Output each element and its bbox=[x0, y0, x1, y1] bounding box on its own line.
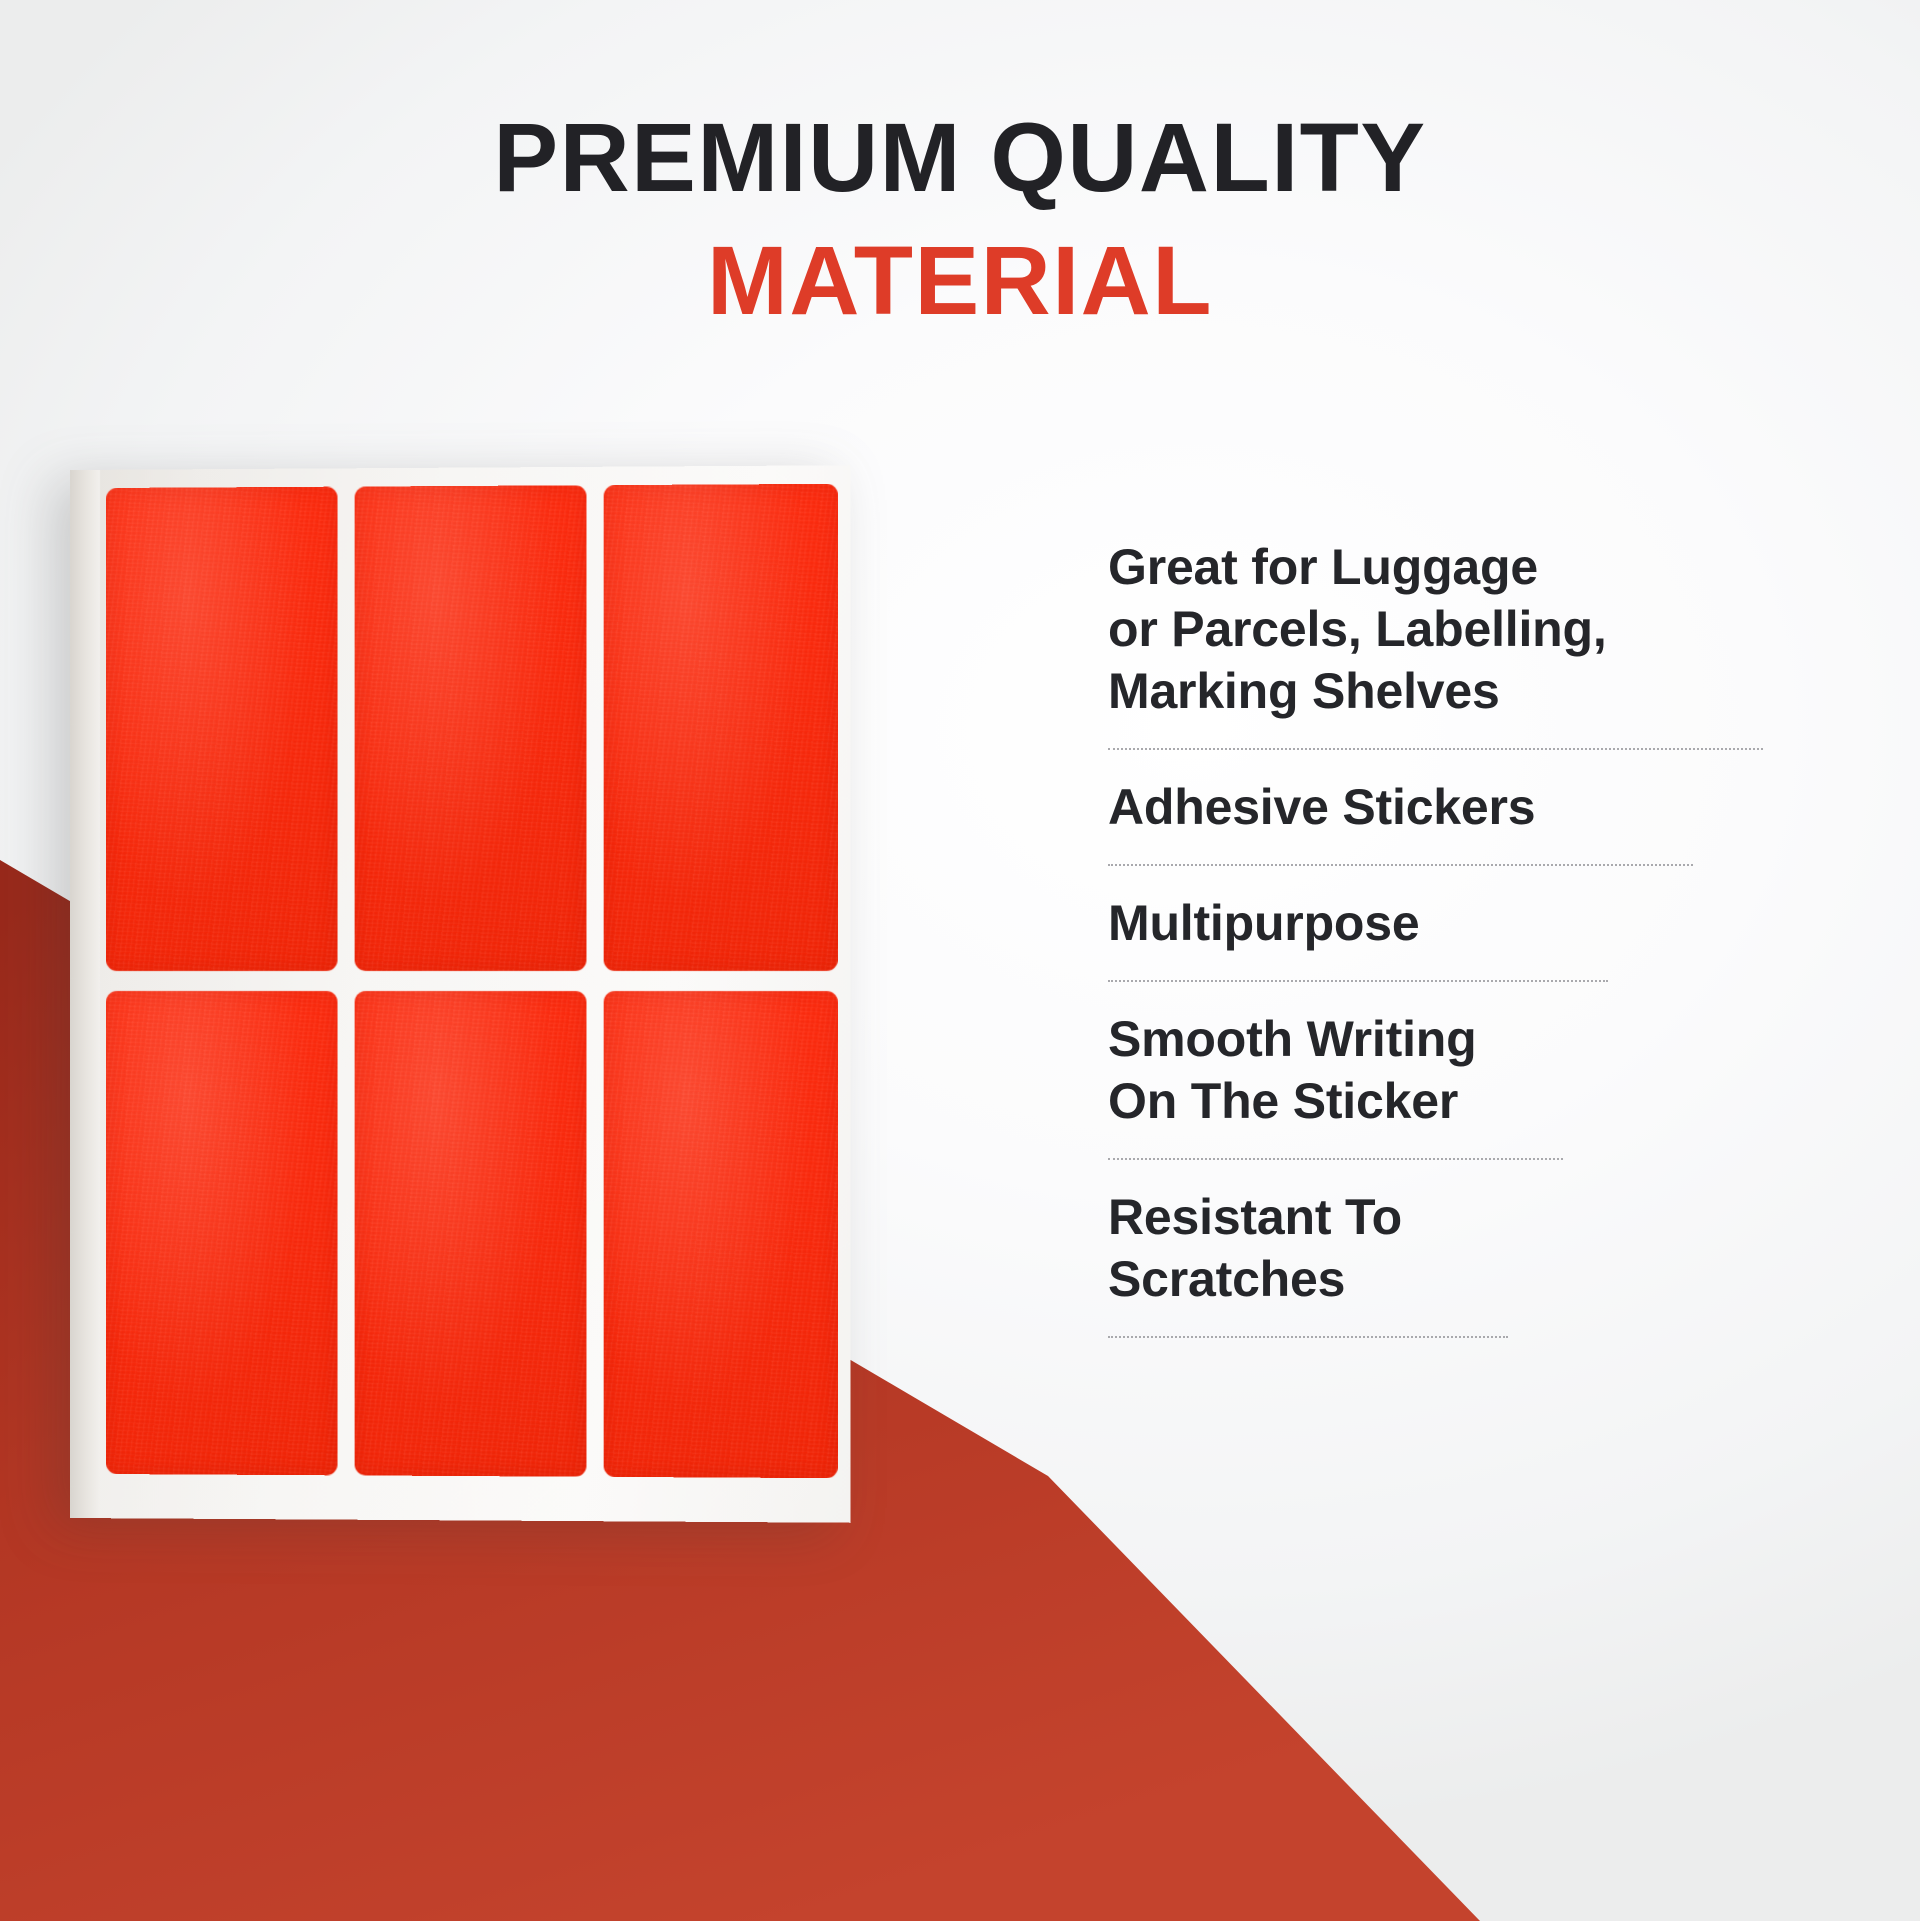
feature-label: Great for Luggage or Parcels, Labelling,… bbox=[1108, 536, 1778, 722]
feature-smooth-writing: Smooth Writing On The Sticker bbox=[1108, 1008, 1778, 1132]
label-sticker bbox=[354, 991, 587, 1477]
feature-label: Multipurpose bbox=[1108, 892, 1778, 954]
label-sticker bbox=[106, 487, 337, 971]
feature-divider bbox=[1108, 1336, 1508, 1338]
label-grid bbox=[106, 484, 838, 1478]
feature-use-cases: Great for Luggage or Parcels, Labelling,… bbox=[1108, 536, 1778, 722]
label-sticker bbox=[604, 991, 838, 1478]
label-sticker bbox=[604, 484, 838, 971]
headline-block: PREMIUM QUALITY MATERIAL bbox=[0, 104, 1920, 336]
feature-divider bbox=[1108, 1158, 1563, 1160]
feature-divider bbox=[1108, 980, 1608, 982]
feature-divider bbox=[1108, 864, 1693, 866]
headline-accent: MATERIAL bbox=[0, 226, 1920, 336]
feature-label: Resistant To Scratches bbox=[1108, 1186, 1778, 1310]
feature-multipurpose: Multipurpose bbox=[1108, 892, 1778, 954]
feature-scratch-resistant: Resistant To Scratches bbox=[1108, 1186, 1778, 1310]
feature-label: Smooth Writing On The Sticker bbox=[1108, 1008, 1778, 1132]
feature-list: Great for Luggage or Parcels, Labelling,… bbox=[1108, 536, 1778, 1364]
label-sticker bbox=[106, 991, 337, 1475]
infographic-canvas: PREMIUM QUALITY MATERIAL Great for Lugga… bbox=[0, 0, 1920, 1921]
feature-adhesive: Adhesive Stickers bbox=[1108, 776, 1778, 838]
headline-primary: PREMIUM QUALITY bbox=[0, 104, 1920, 212]
feature-divider bbox=[1108, 748, 1763, 750]
feature-label: Adhesive Stickers bbox=[1108, 776, 1778, 838]
product-photo-label-sheet bbox=[70, 470, 844, 1518]
label-sticker bbox=[354, 485, 587, 971]
